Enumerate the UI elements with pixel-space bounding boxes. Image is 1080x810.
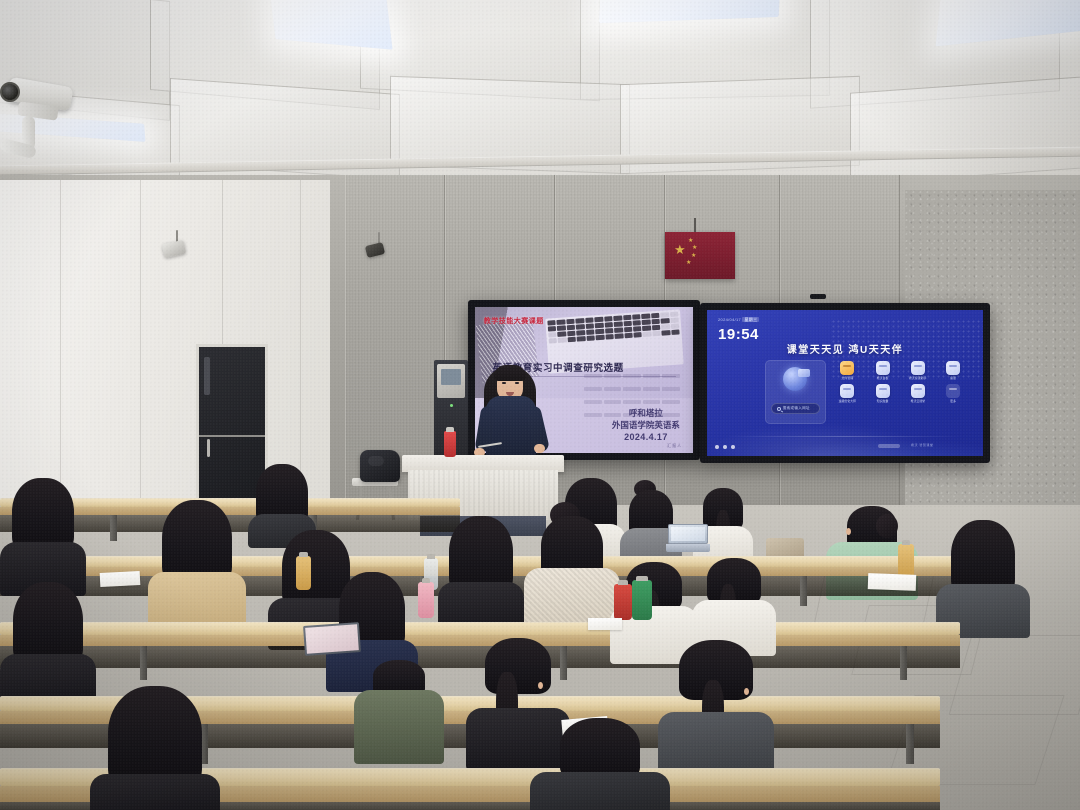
presenter-hand: [534, 444, 545, 453]
more-apps-icon: [946, 384, 960, 398]
board-footer-pill: [878, 444, 900, 448]
av-control-panel[interactable]: [437, 364, 465, 398]
student: [658, 640, 774, 774]
door-panel: [204, 357, 210, 395]
presenter-eye: [502, 382, 506, 384]
student-torso: [148, 572, 246, 628]
slide-red-header: 教学技能大赛课题: [484, 316, 544, 326]
board-nav-tray[interactable]: [715, 445, 735, 449]
nav-menu-icon[interactable]: [731, 445, 735, 449]
nav-back-icon[interactable]: [715, 445, 719, 449]
student: [90, 686, 220, 810]
whiteboard-icon: [876, 361, 890, 375]
smart-board-display[interactable]: 2024/04/17 星期三 19:54 课堂天天见 鸿U天天伴 搜索或输入网址…: [700, 303, 990, 463]
tablet[interactable]: [303, 622, 361, 656]
board-headline: 课堂天天见 鸿U天天伴: [707, 341, 983, 356]
board-footer-note: 希沃 智慧课堂: [911, 443, 933, 447]
student-hair: [12, 478, 74, 552]
slide-author-block: 呼和塔拉 外国语学院英语系 2024.4.17: [612, 407, 680, 445]
search-placeholder: 搜索或输入网址: [783, 406, 810, 411]
student: [524, 508, 620, 622]
slide-department: 外国语学院英语系: [612, 419, 680, 431]
national-flag: ★ ★ ★ ★ ★: [665, 232, 735, 279]
app-label: 希沃云课堂: [911, 399, 926, 403]
ceiling-tile: [850, 75, 1080, 184]
red-thermos: [444, 431, 456, 457]
laptop-screen: [668, 524, 708, 544]
student-hair: [560, 718, 640, 780]
board-camera-icon: [810, 294, 826, 299]
slide-author-name: 呼和塔拉: [612, 407, 680, 419]
lecture-hall-photo: ★ ★ ★ ★ ★ 教学技能大赛课题 英语教育实习中调查研究选题: [0, 0, 1080, 810]
wall-seam: [300, 180, 301, 510]
globe-icon: [783, 367, 807, 391]
desk-surface: [0, 622, 960, 635]
flag-star-icon: ★: [691, 254, 696, 259]
student: [0, 582, 96, 698]
app-label: 文件管理: [842, 376, 854, 380]
board-home-screen: 2024/04/17 星期三 19:54 课堂天天见 鸿U天天伴 搜索或输入网址…: [707, 310, 983, 456]
board-app-item[interactable]: 知识胶囊: [866, 384, 898, 403]
board-weekday-badge: 星期三: [742, 317, 759, 322]
notebook-paper: [100, 571, 141, 587]
student-torso: [90, 774, 220, 810]
desk-leg: [906, 724, 914, 764]
pink-bottle: [418, 582, 434, 618]
student-ear: [538, 682, 543, 689]
flag-star-icon: ★: [686, 261, 691, 266]
knowledge-capsule-icon: [876, 384, 890, 398]
student: [936, 520, 1030, 630]
student: [248, 464, 316, 534]
student-bun: [876, 514, 898, 538]
laptop[interactable]: [668, 524, 708, 552]
student-ear: [846, 528, 851, 535]
notebook-paper: [588, 618, 622, 630]
presenter-fringe: [494, 365, 526, 381]
desk-leg: [800, 576, 807, 606]
student: [354, 660, 444, 760]
class-optimizer-icon: [840, 384, 854, 398]
student: [438, 516, 524, 624]
browser-widget[interactable]: 搜索或输入网址: [765, 360, 826, 424]
file-manager-icon: [840, 361, 854, 375]
app-label: 希沃授课助手: [909, 376, 926, 380]
desk-leg: [110, 515, 117, 541]
door-rail: [199, 435, 265, 437]
board-app-item[interactable]: 备课: [937, 361, 969, 380]
board-date-text: 2024/04/17: [718, 317, 741, 322]
red-cup: [614, 584, 632, 620]
backpack: [360, 450, 400, 482]
student-torso: [530, 772, 670, 810]
app-label: 知识胶囊: [877, 399, 889, 403]
flag-star-icon: ★: [674, 244, 686, 256]
nav-home-icon[interactable]: [723, 445, 727, 449]
notebook-paper: [868, 573, 917, 591]
board-app-item[interactable]: 希沃授课助手: [902, 361, 934, 380]
board-app-item[interactable]: 希沃白板: [866, 361, 898, 380]
board-app-item[interactable]: 文件管理: [831, 361, 863, 380]
amber-thermos: [296, 556, 311, 590]
green-cup: [632, 580, 652, 620]
student-ear: [744, 688, 749, 695]
board-date: 2024/04/17 星期三: [718, 317, 759, 323]
app-label: 更多: [950, 399, 956, 403]
door-handle[interactable]: [207, 439, 210, 457]
flag-star-icon: ★: [692, 246, 697, 251]
desk-leg: [140, 646, 147, 680]
slide-corner-mark: 汇报人: [667, 443, 682, 449]
cloud-classroom-icon: [911, 384, 925, 398]
app-label: 希沃白板: [877, 376, 889, 380]
camera-lens-icon: [0, 82, 20, 102]
student-torso: [354, 690, 444, 764]
board-search-input[interactable]: 搜索或输入网址: [771, 403, 820, 414]
teaching-assistant-icon: [911, 361, 925, 375]
flag-star-icon: ★: [688, 239, 693, 244]
search-icon: [777, 407, 781, 411]
power-led-icon: [450, 404, 453, 407]
board-app-item[interactable]: 希沃云课堂: [902, 384, 934, 403]
presenter-eye: [515, 382, 519, 384]
wall-seam: [140, 180, 141, 510]
laptop-base: [666, 544, 710, 552]
board-app-item[interactable]: 班级优化大师: [831, 384, 863, 403]
board-app-item[interactable]: 更多: [937, 384, 969, 403]
app-label: 班级优化大师: [839, 399, 856, 403]
board-app-grid: 文件管理 希沃白板 希沃授课助手 备课 班级优化大师: [831, 361, 969, 403]
wall-seam: [60, 180, 61, 510]
student: [0, 478, 86, 588]
lesson-prep-icon: [946, 361, 960, 375]
desk-leg: [900, 646, 907, 680]
student: [530, 718, 670, 810]
app-label: 备课: [950, 376, 956, 380]
left-wall: [0, 180, 330, 510]
student: [148, 500, 246, 618]
